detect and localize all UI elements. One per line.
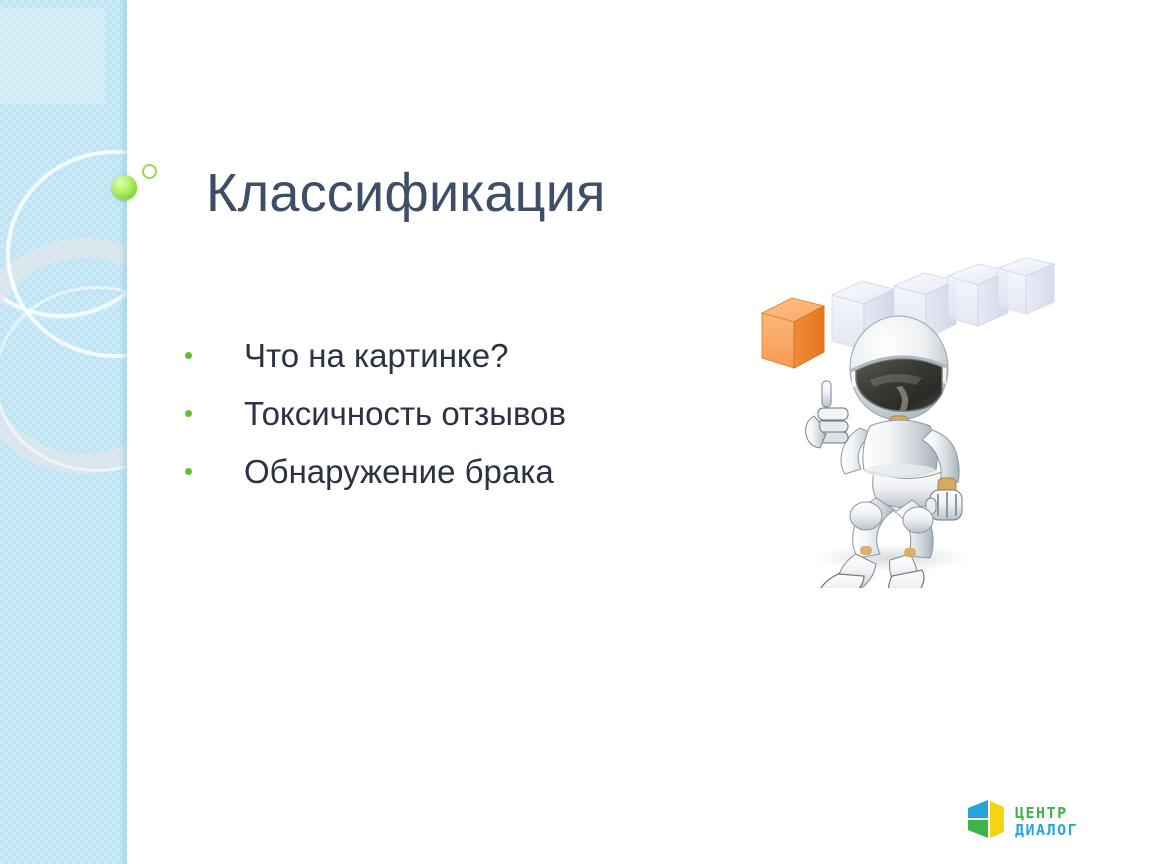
logo-word-top: ЦЕНТР (1015, 805, 1078, 821)
cube-1-highlighted (762, 298, 824, 368)
green-sphere-icon (112, 175, 137, 200)
list-item-label: Что на картинке? (244, 339, 508, 372)
bullet-list: Что на картинке? Токсичность отзывов Обн… (185, 326, 705, 500)
sidebar-edge-shading (119, 0, 127, 864)
robot-legs (817, 498, 933, 588)
bullet-dot-icon (185, 410, 192, 417)
bullet-dot-icon (185, 468, 192, 475)
list-item: Токсичность отзывов (185, 384, 705, 442)
list-item-label: Обнаружение брака (244, 455, 554, 488)
list-item: Что на картинке? (185, 326, 705, 384)
cube-5 (998, 258, 1054, 314)
logo-wordmark: ЦЕНТР ДИАЛОГ (1015, 805, 1078, 837)
bullet-dot-icon (185, 352, 192, 359)
logo-cube-icon (966, 798, 1008, 845)
robot-illustration (752, 258, 1072, 588)
green-small-circle-icon (142, 164, 157, 179)
decorative-sidebar (0, 0, 127, 864)
robot-head (850, 316, 948, 420)
company-logo: ЦЕНТР ДИАЛОГ (966, 798, 1078, 845)
slide-canvas: Классификация Что на картинке? Токсичнос… (0, 0, 1150, 864)
list-item: Обнаружение брака (185, 442, 705, 500)
list-item-label: Токсичность отзывов (244, 397, 566, 430)
page-title: Классификация (206, 162, 606, 224)
logo-word-bottom: ДИАЛОГ (1015, 822, 1078, 838)
